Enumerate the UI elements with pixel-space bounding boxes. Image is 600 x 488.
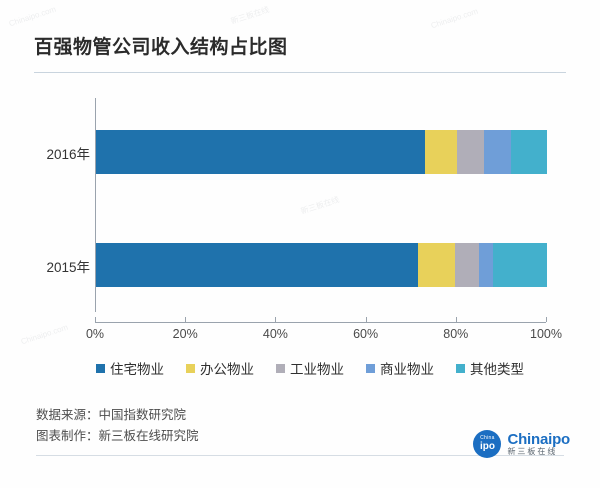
x-axis-tick-label: 40% — [263, 327, 288, 341]
page-title: 百强物管公司收入结构占比图 — [34, 32, 288, 59]
x-axis-tick — [185, 317, 186, 322]
legend-item[interactable]: 住宅物业 — [96, 358, 164, 378]
footer-maker: 图表制作：新三板在线研究院 — [36, 426, 199, 447]
x-axis-tick — [546, 317, 547, 322]
bar-segment[interactable] — [455, 243, 480, 287]
plot-area: 2016年 2015年 — [0, 88, 600, 318]
x-axis-tick-label: 0% — [86, 327, 104, 341]
logo-main-text: Chinaipo — [507, 432, 570, 448]
bar-series-2015[interactable] — [96, 243, 547, 287]
legend-swatch-icon — [96, 364, 105, 373]
legend-label: 工业物业 — [290, 358, 344, 378]
legend-item[interactable]: 其他类型 — [456, 358, 524, 378]
bar-segment[interactable] — [418, 243, 454, 287]
legend-label: 办公物业 — [200, 358, 254, 378]
x-axis-tick — [275, 317, 276, 322]
legend-label: 商业物业 — [380, 358, 434, 378]
x-axis-tick-label: 100% — [530, 327, 562, 341]
x-axis-tick-label: 60% — [353, 327, 378, 341]
x-axis-tick — [95, 317, 96, 322]
logo-badge-bottom: ipo — [480, 442, 495, 452]
bar-segment[interactable] — [511, 130, 547, 174]
x-axis-tick-label: 80% — [443, 327, 468, 341]
legend-swatch-icon — [456, 364, 465, 373]
legend-item[interactable]: 办公物业 — [186, 358, 254, 378]
footer-source: 数据来源：中国指数研究院 — [36, 405, 199, 426]
x-axis-line — [95, 322, 546, 323]
logo-badge-icon: China ipo — [473, 430, 501, 458]
x-axis-tick — [366, 317, 367, 322]
legend-label: 其他类型 — [470, 358, 524, 378]
legend-swatch-icon — [366, 364, 375, 373]
logo-sub-text: 新三板在线 — [507, 448, 570, 456]
x-axis-tick — [456, 317, 457, 322]
chart-page: Chinaipo.com 新三板在线 Chinaipo.com Chinaipo… — [0, 0, 600, 488]
bar-segment[interactable] — [96, 130, 425, 174]
bar-segment[interactable] — [493, 243, 547, 287]
bar-segment[interactable] — [96, 243, 418, 287]
bar-segment[interactable] — [484, 130, 511, 174]
title-divider — [34, 72, 566, 73]
bar-series-2016[interactable] — [96, 130, 547, 174]
logo-wordmark: Chinaipo 新三板在线 — [507, 432, 570, 456]
legend-item[interactable]: 商业物业 — [366, 358, 434, 378]
footer-notes: 数据来源：中国指数研究院 图表制作：新三板在线研究院 — [36, 405, 199, 447]
y-tick-label-2016: 2016年 — [10, 143, 90, 163]
legend-swatch-icon — [186, 364, 195, 373]
legend-item[interactable]: 工业物业 — [276, 358, 344, 378]
chart-legend: 住宅物业办公物业工业物业商业物业其他类型 — [96, 358, 524, 378]
legend-label: 住宅物业 — [110, 358, 164, 378]
bar-segment[interactable] — [479, 243, 493, 287]
bar-segment[interactable] — [457, 130, 484, 174]
y-tick-label-2015: 2015年 — [10, 256, 90, 276]
legend-swatch-icon — [276, 364, 285, 373]
chinaipo-logo: China ipo Chinaipo 新三板在线 — [473, 430, 570, 458]
x-axis-tick-label: 20% — [173, 327, 198, 341]
bar-segment[interactable] — [425, 130, 457, 174]
